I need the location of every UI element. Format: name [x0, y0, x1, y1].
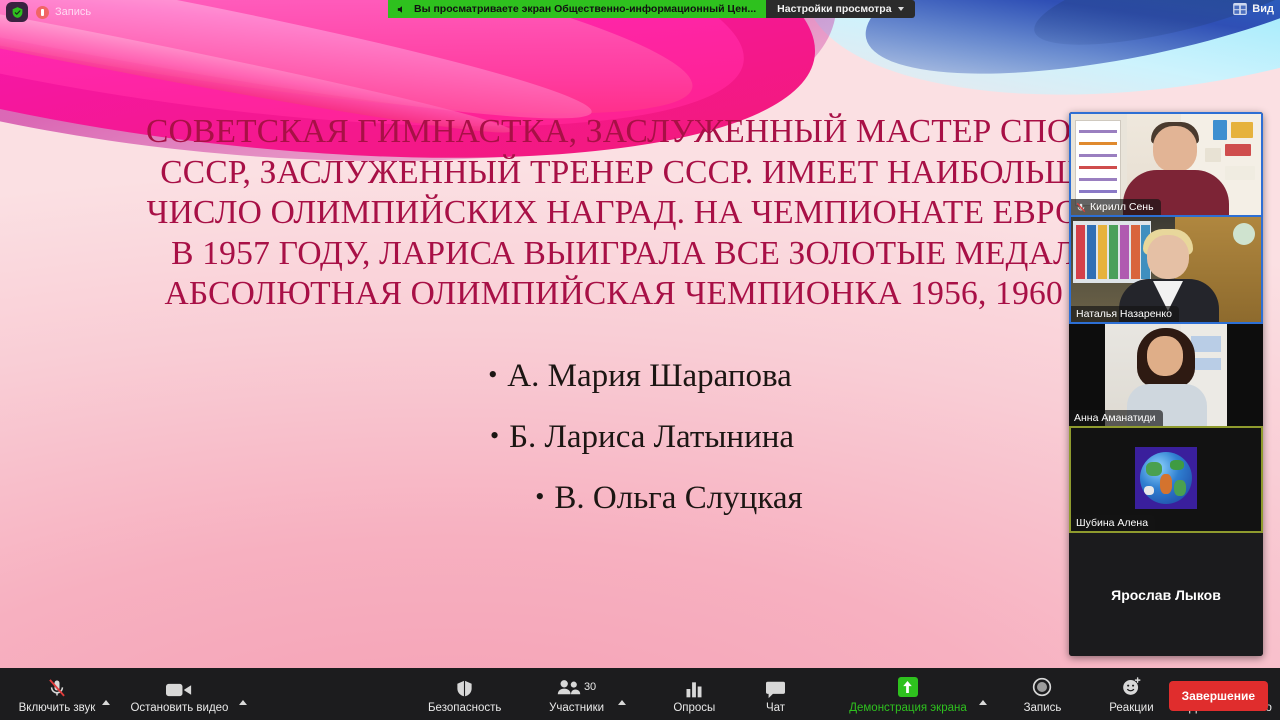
view-button-label: Вид: [1252, 3, 1274, 15]
answer-option-a: •А. Мария Шарапова: [190, 345, 1090, 406]
participant-name: Шубина Алена: [1076, 517, 1148, 529]
video-options-chevron-up-icon[interactable]: [236, 668, 251, 720]
meeting-status-indicators: Запись: [6, 2, 91, 22]
answer-option-b-text: Б. Лариса Латынина: [509, 419, 794, 455]
toolbar-reactions-button[interactable]: Реакции: [1100, 668, 1163, 720]
video-tile-shubina-alena[interactable]: Шубина Алена: [1069, 426, 1263, 533]
camera-icon: [166, 675, 192, 699]
zoom-meeting-window: Советская гимнастка, заслуженный мастер …: [0, 0, 1280, 720]
toolbar-share-screen-label: Демонстрация экрана: [849, 702, 967, 714]
grid-view-icon: [1233, 3, 1247, 15]
participant-filmstrip[interactable]: Кирилл Сень Наталья Наз: [1069, 112, 1263, 656]
microphone-muted-icon: [47, 675, 67, 699]
recording-indicator[interactable]: Запись: [36, 6, 91, 19]
smiley-plus-icon: [1121, 675, 1142, 699]
toolbar-video-button[interactable]: Остановить видео: [123, 668, 235, 720]
toolbar-security-button[interactable]: Безопасность: [419, 668, 511, 720]
toolbar-video-label: Остановить видео: [130, 702, 228, 714]
toolbar-record-label: Запись: [1024, 702, 1062, 714]
toolbar-polls-button[interactable]: Опросы: [662, 668, 727, 720]
screen-share-banner-green: Вы просматриваете экран Общественно-инфо…: [388, 0, 766, 18]
participant-name: Анна Аманатиди: [1074, 412, 1156, 424]
toolbar-record-button[interactable]: Запись: [1013, 668, 1072, 720]
participant-name: Наталья Назаренко: [1076, 308, 1172, 320]
tile-name-badge: Кирилл Сень: [1071, 199, 1161, 215]
end-meeting-label: Завершение: [1182, 689, 1255, 703]
bar-chart-icon: [684, 675, 704, 699]
globe-avatar: [1135, 447, 1197, 509]
shield-icon: [455, 675, 474, 699]
audio-options-chevron-up-icon[interactable]: [98, 668, 113, 720]
toolbar-chat-button[interactable]: Чат: [751, 668, 801, 720]
video-tile-kirill-sen[interactable]: Кирилл Сень: [1069, 112, 1263, 217]
share-options-chevron-up-icon[interactable]: [976, 668, 991, 720]
answer-option-a-text: А. Мария Шарапова: [507, 358, 792, 394]
toolbar-participants-label: Участники: [549, 702, 604, 714]
toolbar-share-screen-button[interactable]: Демонстрация экрана: [840, 668, 975, 720]
participant-name: Кирилл Сень: [1090, 201, 1154, 213]
screen-share-banner-text: Вы просматриваете экран Общественно-инфо…: [414, 3, 756, 15]
view-settings-button[interactable]: Настройки просмотра: [766, 0, 914, 18]
view-settings-label: Настройки просмотра: [777, 3, 891, 15]
chat-bubble-icon: [765, 675, 786, 699]
bullet-icon: •: [490, 421, 499, 450]
toolbar-audio-button[interactable]: Включить звук: [16, 668, 98, 720]
meeting-toolbar: Включить звук Остановить видео Безопасно…: [0, 668, 1280, 720]
participant-name: Ярослав Лыков: [1111, 587, 1221, 603]
participants-options-chevron-up-icon[interactable]: [615, 668, 630, 720]
chevron-down-icon: [898, 7, 904, 11]
shield-check-icon[interactable]: [6, 2, 28, 22]
answer-option-b: •Б. Лариса Латынина: [190, 406, 1090, 467]
toolbar-security-label: Безопасность: [428, 702, 501, 714]
people-icon: 30: [557, 675, 596, 699]
record-pause-icon: [36, 6, 49, 19]
toolbar-audio-label: Включить звук: [19, 702, 96, 714]
record-circle-icon: [1032, 675, 1052, 699]
toolbar-polls-label: Опросы: [673, 702, 715, 714]
toolbar-chat-label: Чат: [766, 702, 785, 714]
bullet-icon: •: [535, 482, 544, 511]
answer-option-v: •В. Ольга Слуцкая: [190, 467, 1090, 528]
tile-name-badge: Шубина Алена: [1071, 515, 1155, 531]
toolbar-reactions-label: Реакции: [1109, 702, 1153, 714]
slide-paragraph: Советская гимнастка, заслуженный мастер …: [135, 112, 1145, 315]
microphone-muted-icon: [1076, 202, 1086, 213]
video-tile-natalya-nazarenko[interactable]: Наталья Назаренко: [1069, 217, 1263, 324]
toolbar-participants-button[interactable]: 30 Участники: [538, 668, 614, 720]
speaker-icon: [396, 4, 407, 15]
share-screen-icon: [898, 675, 918, 699]
slide-answer-options: •А. Мария Шарапова •Б. Лариса Латынина •…: [190, 345, 1090, 528]
screen-share-banner: Вы просматриваете экран Общественно-инфо…: [388, 0, 915, 18]
video-tile-yaroslav-lykov[interactable]: Ярослав Лыков: [1069, 533, 1263, 656]
bullet-icon: •: [488, 360, 497, 389]
answer-option-v-text: В. Ольга Слуцкая: [554, 480, 802, 516]
video-tile-anna-amanatidi[interactable]: Анна Аманатиди: [1069, 324, 1263, 426]
view-button[interactable]: Вид: [1233, 3, 1274, 15]
participants-count: 30: [584, 681, 596, 693]
recording-label: Запись: [55, 6, 91, 18]
end-meeting-button[interactable]: Завершение: [1169, 681, 1268, 711]
tile-name-badge: Наталья Назаренко: [1071, 306, 1179, 322]
tile-name-badge: Анна Аманатиди: [1069, 410, 1163, 426]
